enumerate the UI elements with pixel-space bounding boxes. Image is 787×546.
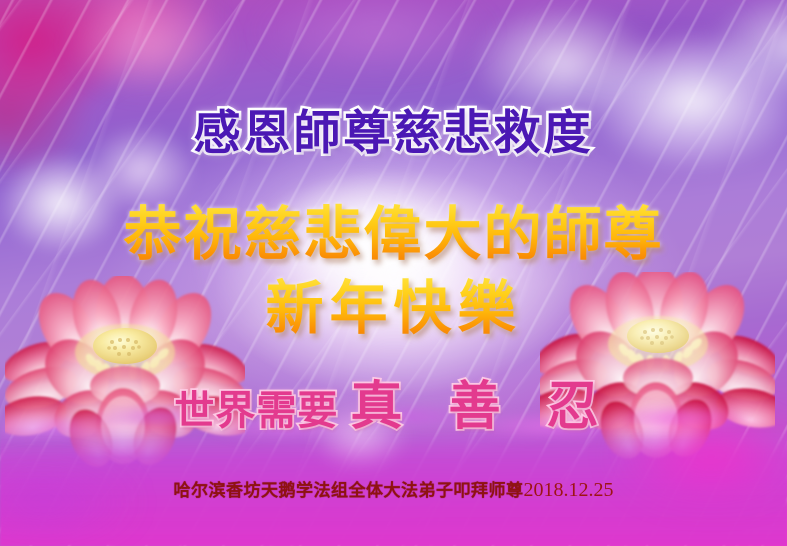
slogan-prefix: 世界需要 (174, 378, 338, 436)
headline-gratitude: 感恩師尊慈悲救度 (194, 94, 594, 163)
signature-line: 哈尔滨香坊天鹅学法组全体大法弟子叩拜师尊 2018.12.25 (174, 476, 614, 502)
greeting-card: 感恩師尊慈悲救度 恭祝慈悲偉大的師尊 新年快樂 世界需要 真 善 忍 哈尔滨香坊… (0, 0, 787, 546)
headline-blessing-line2: 新年快樂 (265, 261, 521, 345)
slogan-emphasis-zhen-shan-ren: 真 善 忍 (350, 364, 612, 439)
headline-blessing-line1: 恭祝慈悲偉大的師尊 (123, 187, 663, 271)
signature-date: 2018.12.25 (524, 479, 614, 502)
water-violet-glow-left (0, 436, 200, 546)
signature-group-text: 哈尔滨香坊天鹅学法组全体大法弟子叩拜师尊 (174, 476, 524, 501)
slogan-row: 世界需要 真 善 忍 (174, 364, 612, 439)
